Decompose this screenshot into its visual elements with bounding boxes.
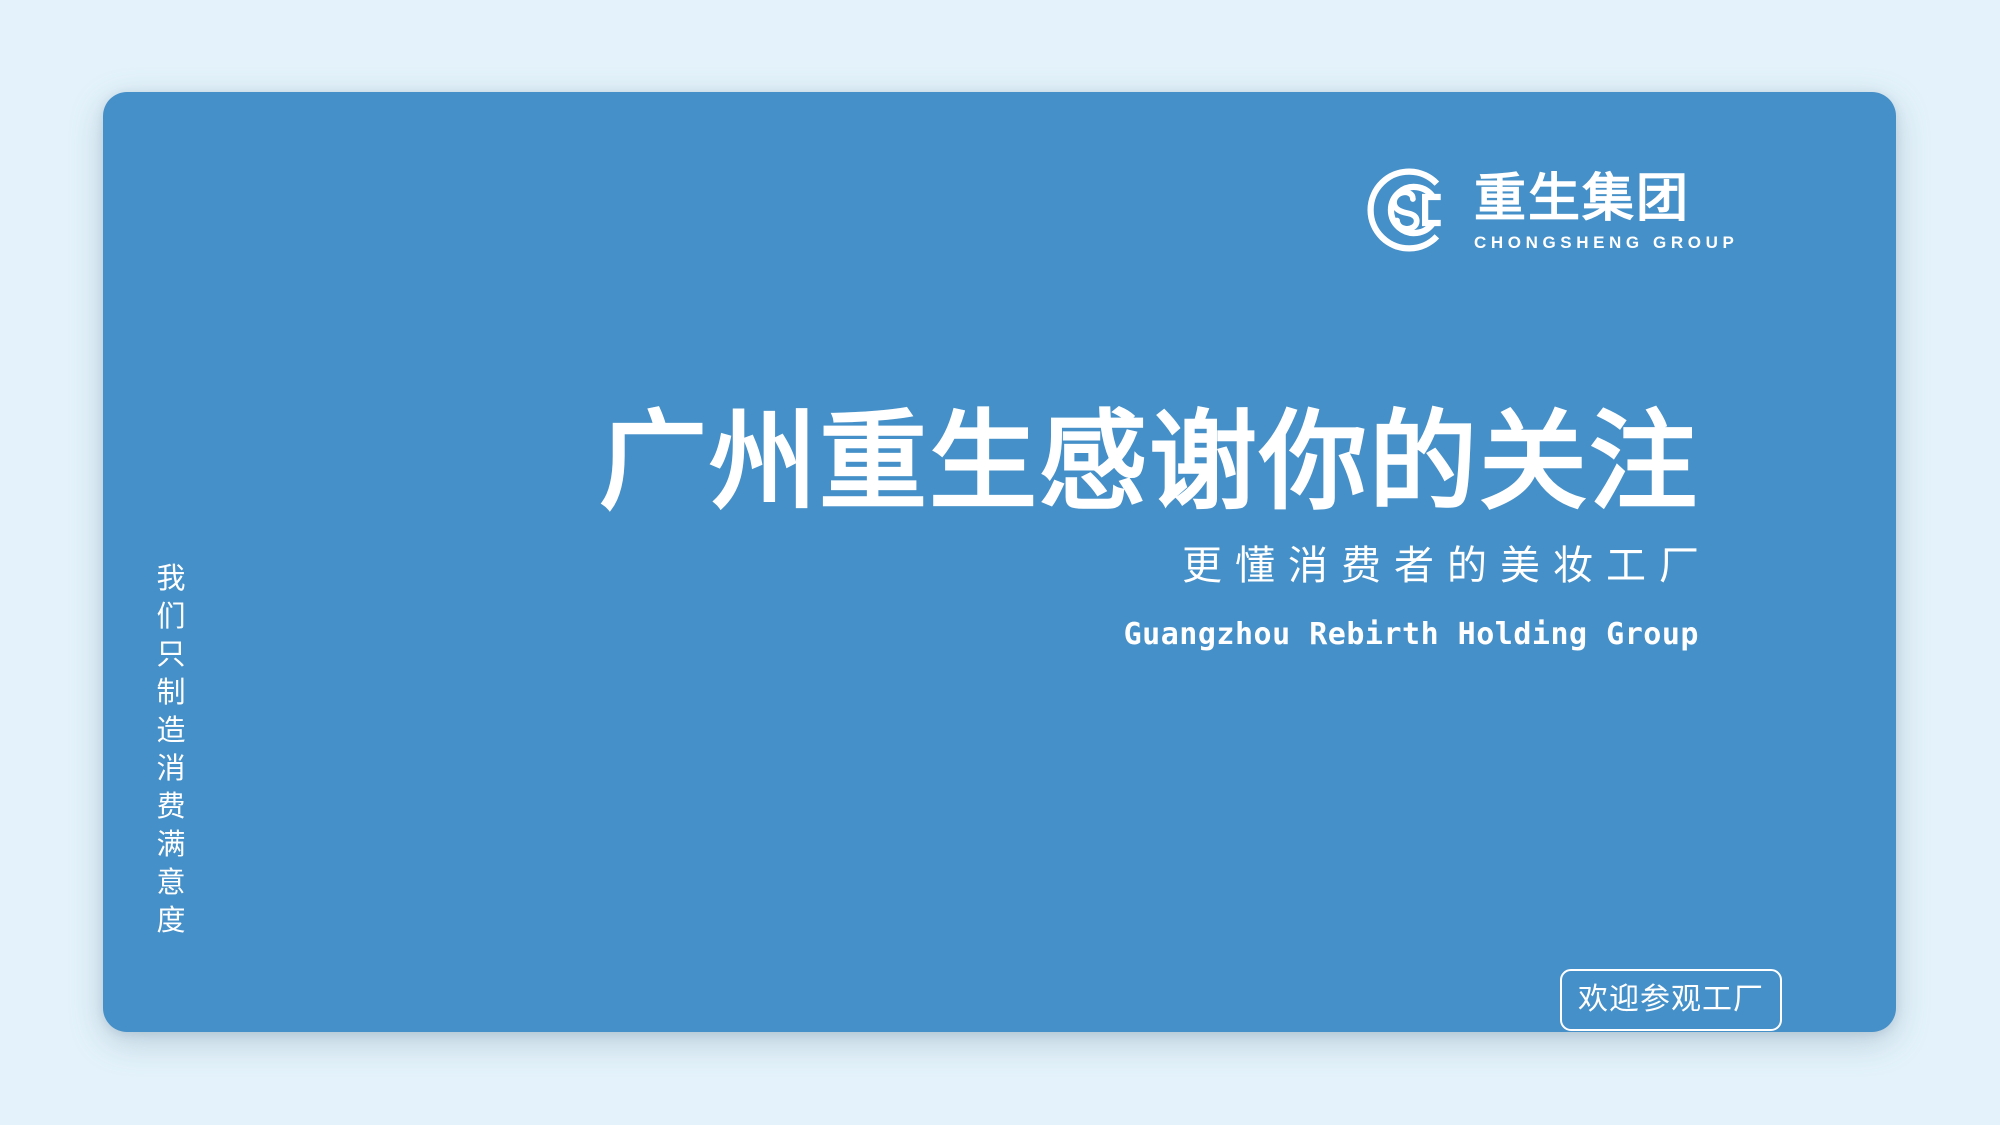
brand-wordmark: 重生集团 CHONGSHENG GROUP — [1474, 169, 1738, 251]
visit-factory-button[interactable]: 欢迎参观工厂 — [1560, 969, 1782, 1031]
sub-headline: 更懂消费者的美妆工厂 — [599, 539, 1712, 593]
page-title: 广州重生感谢你的关注 — [599, 404, 1699, 521]
headline-block: 广州重生感谢你的关注 更懂消费者的美妆工厂 Guangzhou Rebirth … — [599, 404, 1699, 654]
brand-name-en: CHONGSHENG GROUP — [1474, 234, 1738, 251]
brand-name-cn: 重生集团 — [1474, 173, 1738, 225]
slide-card: 我们只制造消费满意度 重生集团 CHONGSHENG GROUP — [103, 92, 1896, 1032]
vertical-slogan: 我们只制造消费满意度 — [151, 560, 191, 940]
slide-root: 我们只制造消费满意度 重生集团 CHONGSHENG GROUP — [0, 0, 2000, 1125]
chongsheng-logo-icon — [1362, 162, 1458, 258]
brand-logo-lockup: 重生集团 CHONGSHENG GROUP — [1362, 162, 1738, 258]
sub-headline-english: Guangzhou Rebirth Holding Group — [599, 615, 1699, 654]
